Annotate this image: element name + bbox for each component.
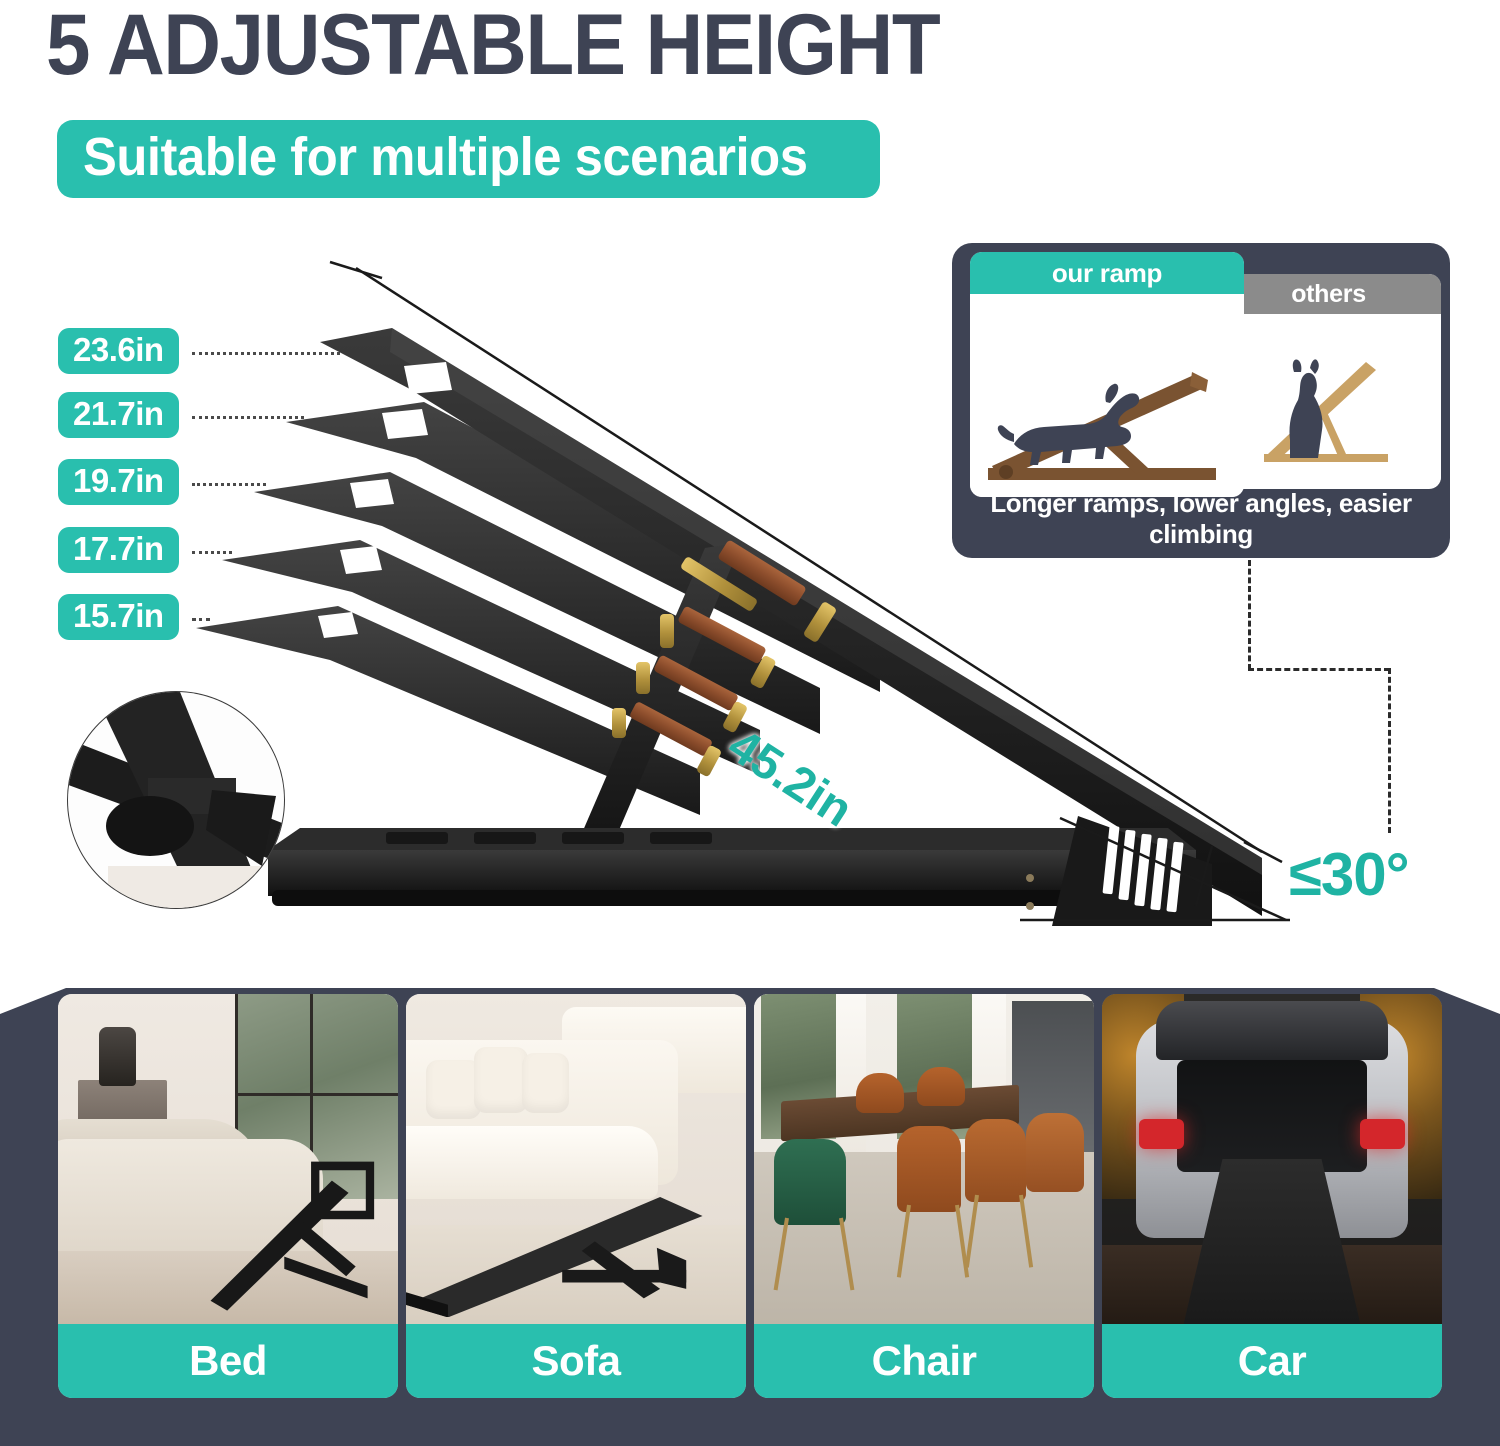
others-header-label: others xyxy=(1216,274,1441,314)
sofa-scene-art xyxy=(406,994,746,1324)
ours-header-label: our ramp xyxy=(970,252,1244,294)
connector-segment-vertical-1 xyxy=(1248,560,1251,670)
car-photo xyxy=(1102,994,1442,1324)
car-scene-art xyxy=(1102,994,1442,1324)
others-illustration xyxy=(1216,314,1441,487)
scenario-label-bed: Bed xyxy=(58,1324,398,1398)
comparison-card: others our ramp xyxy=(952,243,1450,558)
ramp-base-platform xyxy=(268,828,1196,910)
connector-segment-horizontal xyxy=(1248,668,1390,671)
infographic-page: 5 ADJUSTABLE HEIGHT Suitable for multipl… xyxy=(0,0,1500,1446)
scenario-label-sofa: Sofa xyxy=(406,1324,746,1398)
chair-photo xyxy=(754,994,1094,1324)
comparison-panel-ours: our ramp xyxy=(970,252,1244,497)
subtitle-text: Suitable for multiple scenarios xyxy=(83,130,807,184)
others-ramp-svg xyxy=(1216,314,1441,489)
scenario-tile-car[interactable]: Car xyxy=(1102,994,1442,1398)
scenario-label-chair: Chair xyxy=(754,1324,1094,1398)
chair-scene-art xyxy=(754,994,1094,1324)
scenario-tile-chair[interactable]: Chair xyxy=(754,994,1094,1398)
bed-ramp-art xyxy=(201,1139,391,1311)
scenario-tiles: Bed xyxy=(0,988,1500,1446)
sofa-photo xyxy=(406,994,746,1324)
sofa-ramp-art xyxy=(406,1159,726,1317)
angle-dimension-label: ≤30° xyxy=(1289,840,1409,909)
ours-illustration xyxy=(970,294,1244,497)
scenario-tile-sofa[interactable]: Sofa xyxy=(406,994,746,1398)
comparison-caption: Longer ramps, lower angles, easier climb… xyxy=(952,488,1450,550)
bed-scene-art xyxy=(58,994,398,1324)
connector-segment-vertical-2 xyxy=(1388,668,1391,833)
hinge-detail-inset xyxy=(60,682,300,908)
scenario-tile-bed[interactable]: Bed xyxy=(58,994,398,1398)
our-ramp-svg xyxy=(970,294,1244,497)
comparison-panels: others our ramp xyxy=(961,252,1441,497)
comparison-panel-others: others xyxy=(1216,274,1441,489)
subtitle-pill: Suitable for multiple scenarios xyxy=(57,120,880,198)
bed-photo xyxy=(58,994,398,1324)
scenario-label-car: Car xyxy=(1102,1324,1442,1398)
page-title: 5 ADJUSTABLE HEIGHT xyxy=(46,2,939,88)
